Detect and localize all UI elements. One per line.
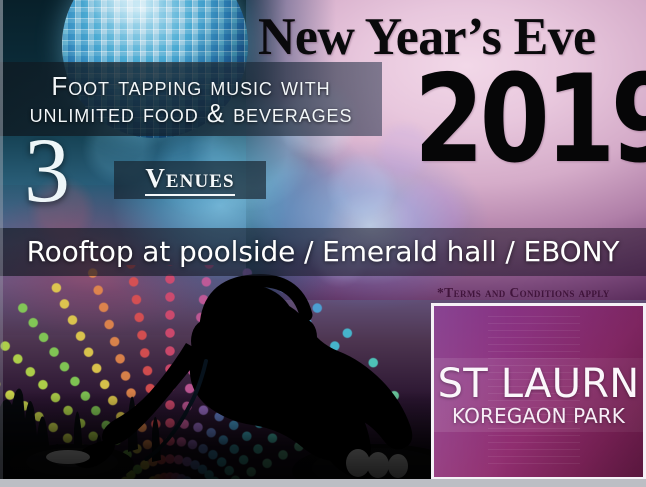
tagline-line-1: Foot tapping music with [51,73,330,99]
hotel-name-band: ST LAURN KOREGAON PARK [434,358,643,432]
left-edge-strip [0,0,3,487]
hotel-card: ST LAURN KOREGAON PARK [431,303,646,480]
hotel-name: ST LAURN [438,364,640,404]
year-title: 2019 [414,60,623,181]
hotel-location: KOREGAON PARK [452,406,625,426]
nye-party-poster: Foot tapping music with unlimited food &… [0,0,646,487]
venue-list-label: Rooftop at poolside / Emerald hall / EBO… [27,238,620,266]
venue-list-band: Rooftop at poolside / Emerald hall / EBO… [0,228,646,276]
bottom-edge-strip [0,479,646,487]
terms-and-conditions: *Terms and Conditions apply [437,285,610,301]
tagline-line-2: unlimited food & beverages [30,100,353,126]
venues-badge: Venues [114,161,266,199]
venues-label: Venues [145,165,234,196]
